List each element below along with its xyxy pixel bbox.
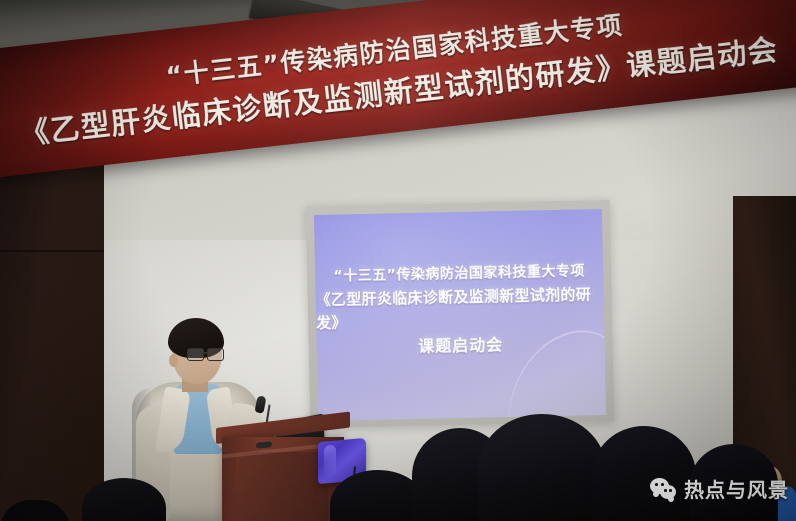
projection-screen: “十三五”传染病防治国家科技重大专项 《乙型肝炎临床诊断及监测新型试剂的研发》 … bbox=[306, 200, 615, 428]
wechat-eye bbox=[664, 489, 667, 492]
audience-head bbox=[592, 426, 696, 521]
lectern-front-panel bbox=[236, 452, 328, 521]
wechat-icon bbox=[650, 478, 677, 501]
wechat-eye bbox=[655, 483, 658, 486]
bag-highlight bbox=[324, 445, 336, 478]
watermark: 热点与风景 bbox=[650, 478, 789, 501]
glasses-lens-right bbox=[207, 348, 224, 361]
dark-wood-panel-left bbox=[0, 130, 104, 521]
audience-head bbox=[478, 414, 606, 521]
watermark-text: 热点与风景 bbox=[684, 480, 789, 500]
wechat-bubble-small bbox=[660, 485, 676, 499]
conference-photo: “十三五”传染病防治国家科技重大专项 《乙型肝炎临床诊断及监测新型试剂的研发》课… bbox=[0, 0, 796, 521]
panel-seam bbox=[0, 250, 104, 252]
speaker-ear bbox=[169, 354, 178, 367]
glasses-lens-left bbox=[187, 348, 204, 361]
wechat-eye bbox=[669, 489, 672, 492]
slide-line-3: 课题启动会 bbox=[418, 331, 504, 362]
slide-line-2: 《乙型肝炎临床诊断及监测新型试剂的研发》 bbox=[315, 283, 604, 336]
projected-slide: “十三五”传染病防治国家科技重大专项 《乙型肝炎临床诊断及监测新型试剂的研发》 … bbox=[314, 209, 606, 421]
glasses-icon bbox=[187, 348, 224, 360]
